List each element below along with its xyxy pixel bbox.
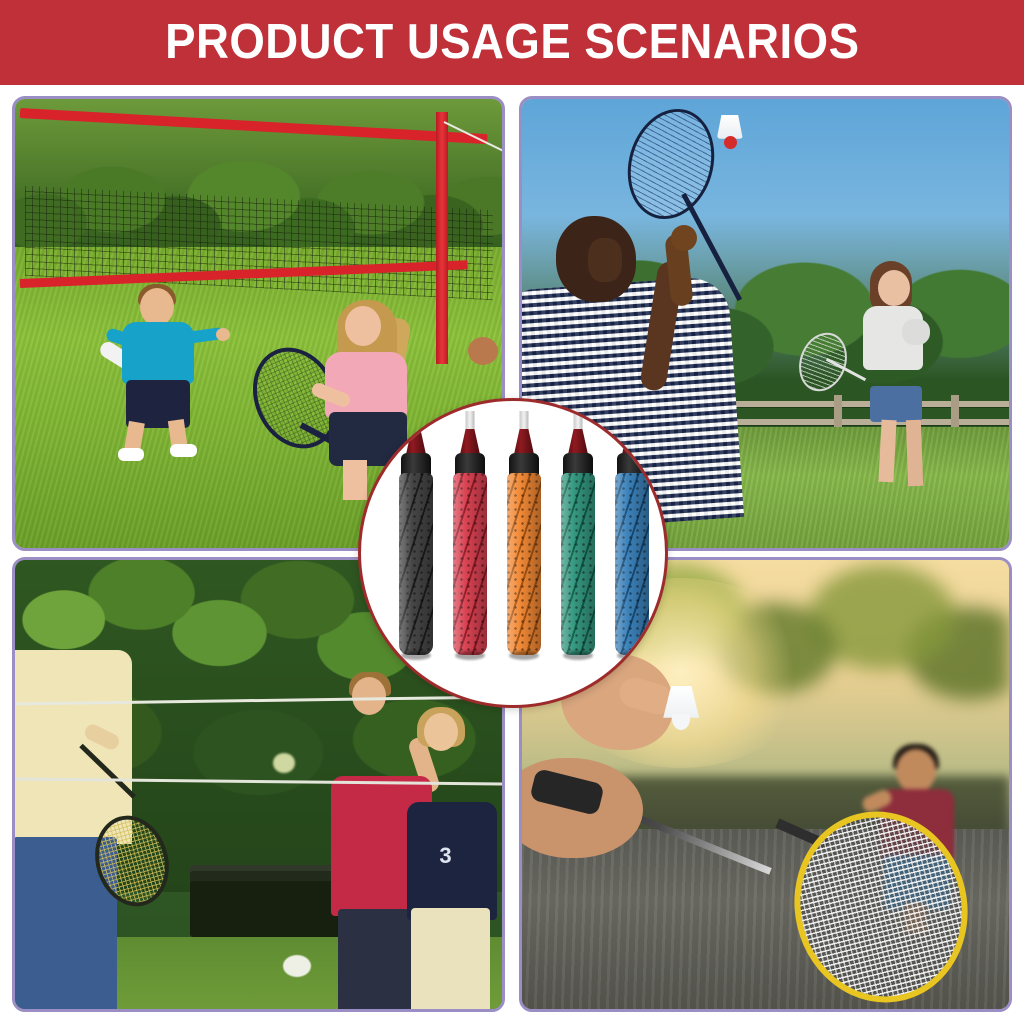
grip-shadow xyxy=(509,651,539,660)
shuttlecock-skirt xyxy=(663,686,699,718)
head xyxy=(424,713,458,751)
shuttlecock xyxy=(717,115,743,149)
racket-head xyxy=(615,99,727,229)
woman-leg-left xyxy=(878,420,896,483)
shuttlecock-cork xyxy=(672,714,690,730)
grip-shadow xyxy=(401,651,431,660)
grip-sheen xyxy=(453,473,487,655)
grip-sheen xyxy=(399,473,433,655)
head xyxy=(140,288,174,326)
cream-pants xyxy=(411,908,490,1009)
man-face xyxy=(588,238,622,282)
woman-denim-shorts xyxy=(870,386,922,422)
shuttlecock xyxy=(663,686,699,732)
woman-leg-right xyxy=(906,420,923,486)
grip-sheen xyxy=(561,473,595,655)
page-title: PRODUCT USAGE SCENARIOS xyxy=(165,18,859,67)
ball-on-grass xyxy=(283,955,311,977)
grip-sheen xyxy=(615,473,649,655)
grip-shadow xyxy=(455,651,485,660)
woman-sleeve xyxy=(902,319,930,345)
jersey-number: 3 xyxy=(432,843,458,869)
shuttlecock-cork xyxy=(724,136,737,149)
overgrip-color-lineup xyxy=(361,401,665,705)
badminton-racket xyxy=(629,108,715,228)
grip-sheen xyxy=(507,473,541,655)
shoe-left xyxy=(118,448,144,461)
head xyxy=(896,749,936,793)
header-banner: PRODUCT USAGE SCENARIOS xyxy=(0,0,1024,85)
grip-shadow xyxy=(563,651,593,660)
woman-head xyxy=(878,270,910,306)
man-hand xyxy=(671,225,697,251)
head xyxy=(345,306,381,346)
teal-shirt xyxy=(122,322,194,384)
shoe-right xyxy=(170,444,197,457)
product-inset-circle xyxy=(358,398,668,708)
hand xyxy=(216,328,230,341)
grip-shadow xyxy=(617,651,647,660)
teen-in-navy-shirt: 3 xyxy=(405,713,502,1009)
child-in-teal-shirt xyxy=(112,288,232,458)
partial-hand-right-edge xyxy=(468,337,498,365)
